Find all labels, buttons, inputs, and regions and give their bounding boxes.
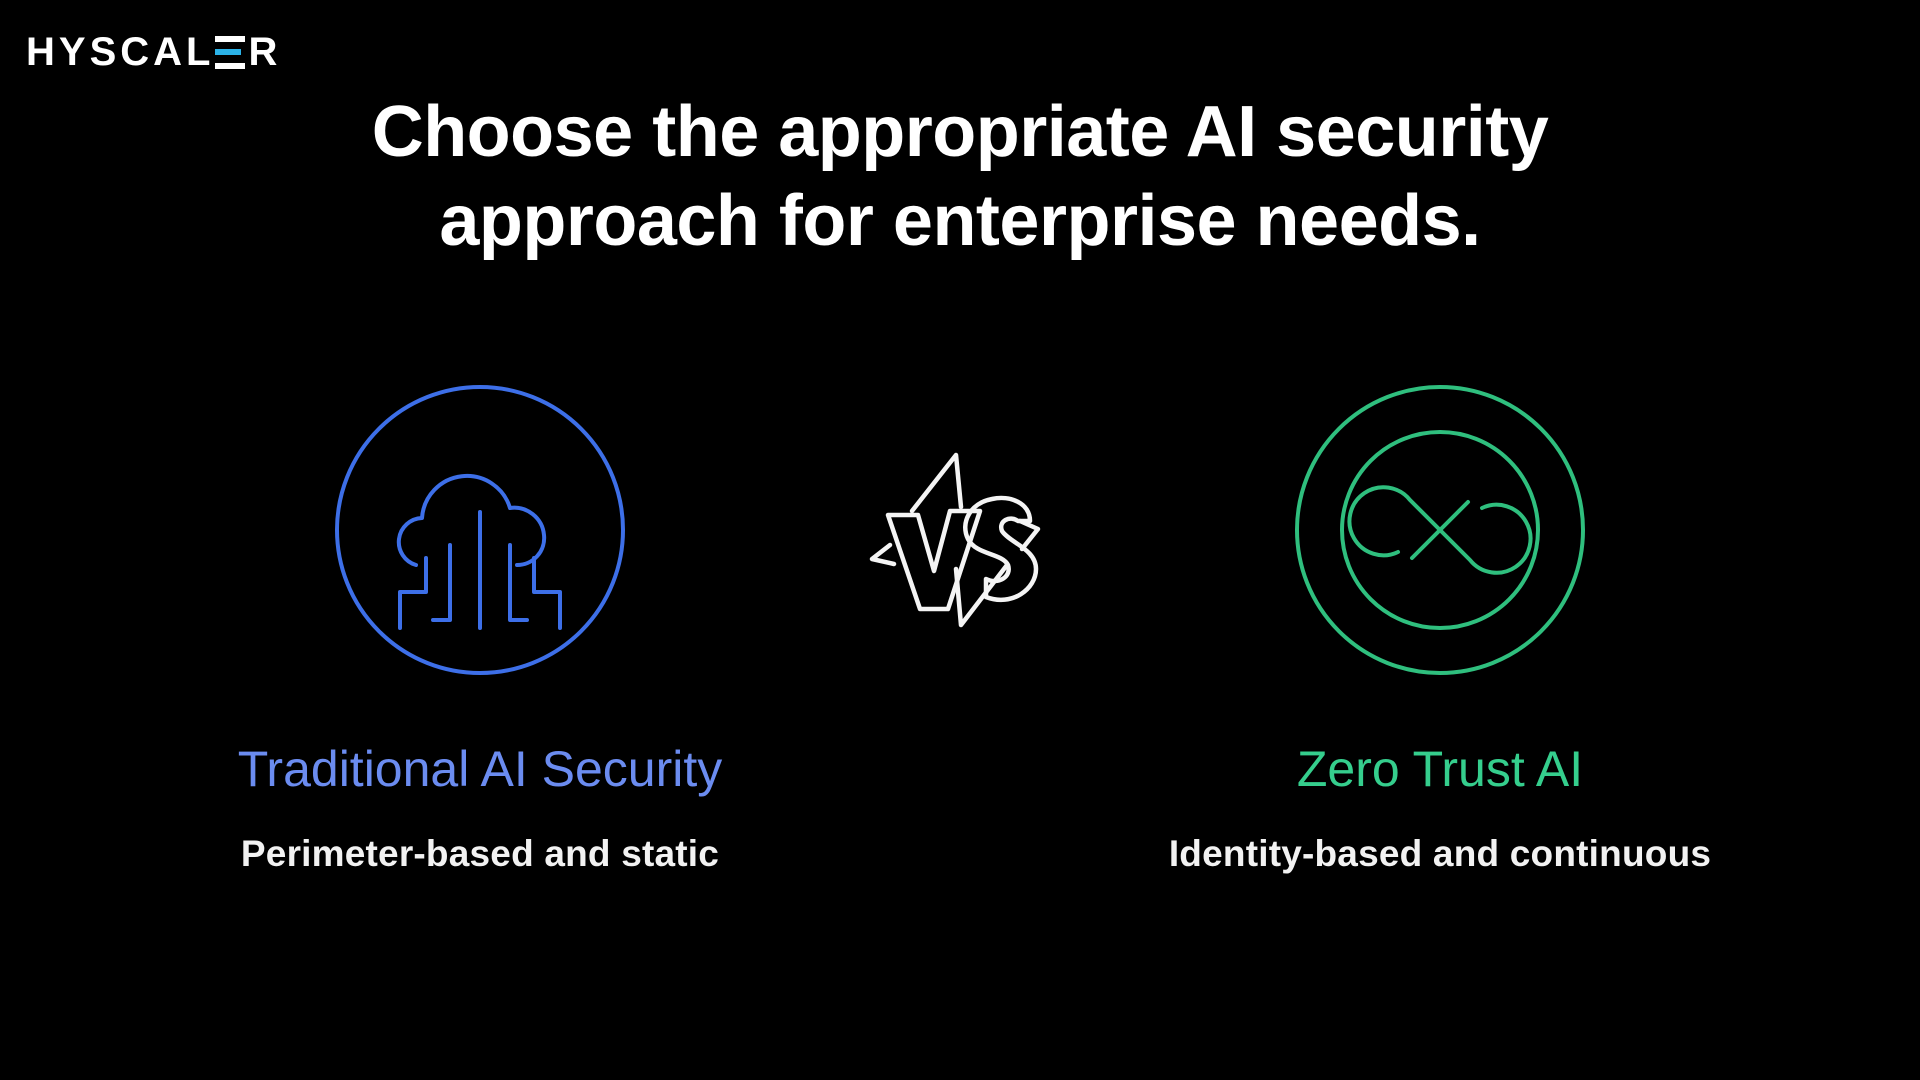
brand-wordmark: HYSCAL R bbox=[26, 32, 281, 72]
comparison-title-traditional: Traditional AI Security bbox=[238, 742, 722, 797]
page-title: Choose the appropriate AI security appro… bbox=[0, 88, 1920, 267]
comparison-card-traditional[interactable]: Traditional AI Security Perimeter-based … bbox=[130, 360, 830, 875]
vs-spark-icon bbox=[855, 432, 1065, 647]
page-title-line-1: Choose the appropriate AI security bbox=[0, 88, 1920, 177]
comparison-row: Traditional AI Security Perimeter-based … bbox=[0, 360, 1920, 875]
brand-accent-e-icon bbox=[215, 36, 245, 69]
page-title-line-2: approach for enterprise needs. bbox=[0, 177, 1920, 266]
brand-name-part1: HYSCAL bbox=[26, 32, 214, 72]
comparison-card-zero-trust[interactable]: Zero Trust AI Identity-based and continu… bbox=[1090, 360, 1790, 875]
interlocking-rings-in-circle-icon bbox=[1270, 360, 1610, 700]
cloud-circuit-in-circle-icon bbox=[310, 360, 650, 700]
brand-name-part2: R bbox=[248, 32, 281, 72]
brand-logo[interactable]: HYSCAL R bbox=[26, 30, 281, 74]
vs-separator bbox=[830, 360, 1090, 647]
comparison-subtitle-traditional: Perimeter-based and static bbox=[241, 833, 719, 875]
comparison-title-zero-trust: Zero Trust AI bbox=[1297, 742, 1583, 797]
comparison-subtitle-zero-trust: Identity-based and continuous bbox=[1169, 833, 1711, 875]
